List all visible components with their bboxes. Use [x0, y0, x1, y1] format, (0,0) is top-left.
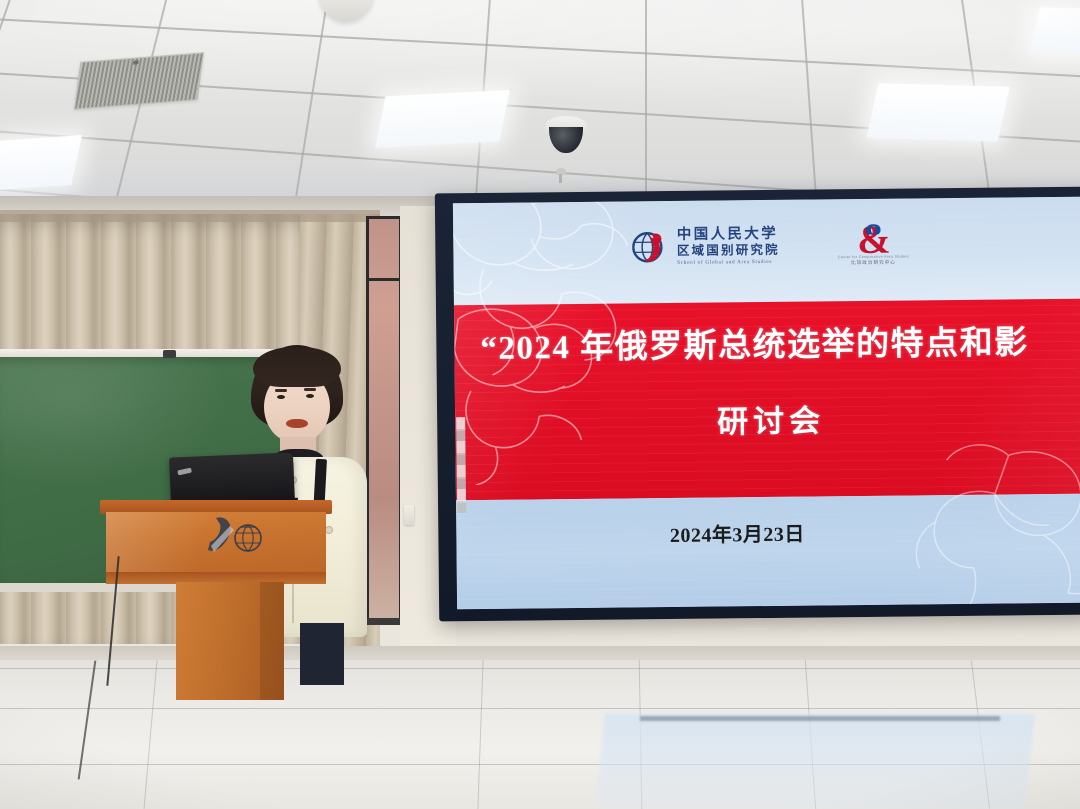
ampersand-icon: & & [845, 223, 901, 258]
window-mullion [366, 278, 402, 281]
suspended-ceiling [0, 0, 1080, 215]
led-panel-light [866, 83, 1009, 141]
floor-tile-line [0, 708, 1080, 709]
slide-title-line-2: 研讨会 [455, 393, 1080, 445]
slide-title-block: “2024 年俄罗斯总统选举的特点和影 研讨会 [454, 315, 1080, 445]
presentation-screen[interactable]: 中国人民大学 区域国别研究院 School of Global and Area… [435, 187, 1080, 622]
screen-content: 中国人民大学 区域国别研究院 School of Global and Area… [453, 197, 1080, 610]
vent-knob [133, 60, 139, 64]
ceiling-grid-line [645, 0, 647, 215]
led-panel-light [375, 90, 510, 148]
podium-globe-emblem-icon [208, 516, 266, 564]
wooden-podium [100, 500, 332, 700]
presenter-eye [277, 395, 285, 399]
curtain-rail [0, 210, 380, 222]
air-vent-icon [74, 52, 204, 109]
slide-bottom-band [456, 494, 1080, 610]
fire-sprinkler-stem [559, 174, 562, 183]
university-school-en: School of Global and Area Studies [677, 259, 780, 265]
screen-edge-artifact [456, 417, 466, 513]
presenter-eyebrow [304, 388, 316, 391]
presenter-eye [306, 394, 314, 398]
lecture-hall-photo: 中国人民大学 区域国别研究院 School of Global and Area… [0, 0, 1080, 809]
university-logo: 中国人民大学 区域国别研究院 School of Global and Area… [630, 226, 780, 268]
presenter-fringe [253, 347, 341, 387]
presenter-mouth [286, 419, 308, 428]
led-panel-light [1030, 7, 1080, 53]
globe-emblem-icon [630, 227, 670, 267]
university-school-cn: 区域国别研究院 [677, 244, 780, 258]
slide-title-line-1: “2024 年俄罗斯总统选举的特点和影 [480, 315, 1080, 369]
slide-logo-row: 中国人民大学 区域国别研究院 School of Global and Area… [453, 211, 1080, 282]
screen-reflection-on-floor [595, 714, 1035, 809]
presenter-eyebrow [275, 389, 287, 392]
partner-logo: & & Center for Comparative Area Studies … [838, 223, 909, 266]
laptop-hinge-marking [177, 468, 192, 476]
university-name-cn: 中国人民大学 [677, 227, 780, 243]
university-logo-text: 中国人民大学 区域国别研究院 School of Global and Area… [677, 227, 780, 266]
podium-column-shadow [260, 582, 284, 700]
led-panel-light [0, 135, 82, 191]
screen-reflection-edge [640, 716, 1000, 721]
light-switch[interactable] [404, 505, 414, 525]
floor-tile-line [477, 660, 483, 809]
chalkboard-clip [163, 350, 176, 358]
